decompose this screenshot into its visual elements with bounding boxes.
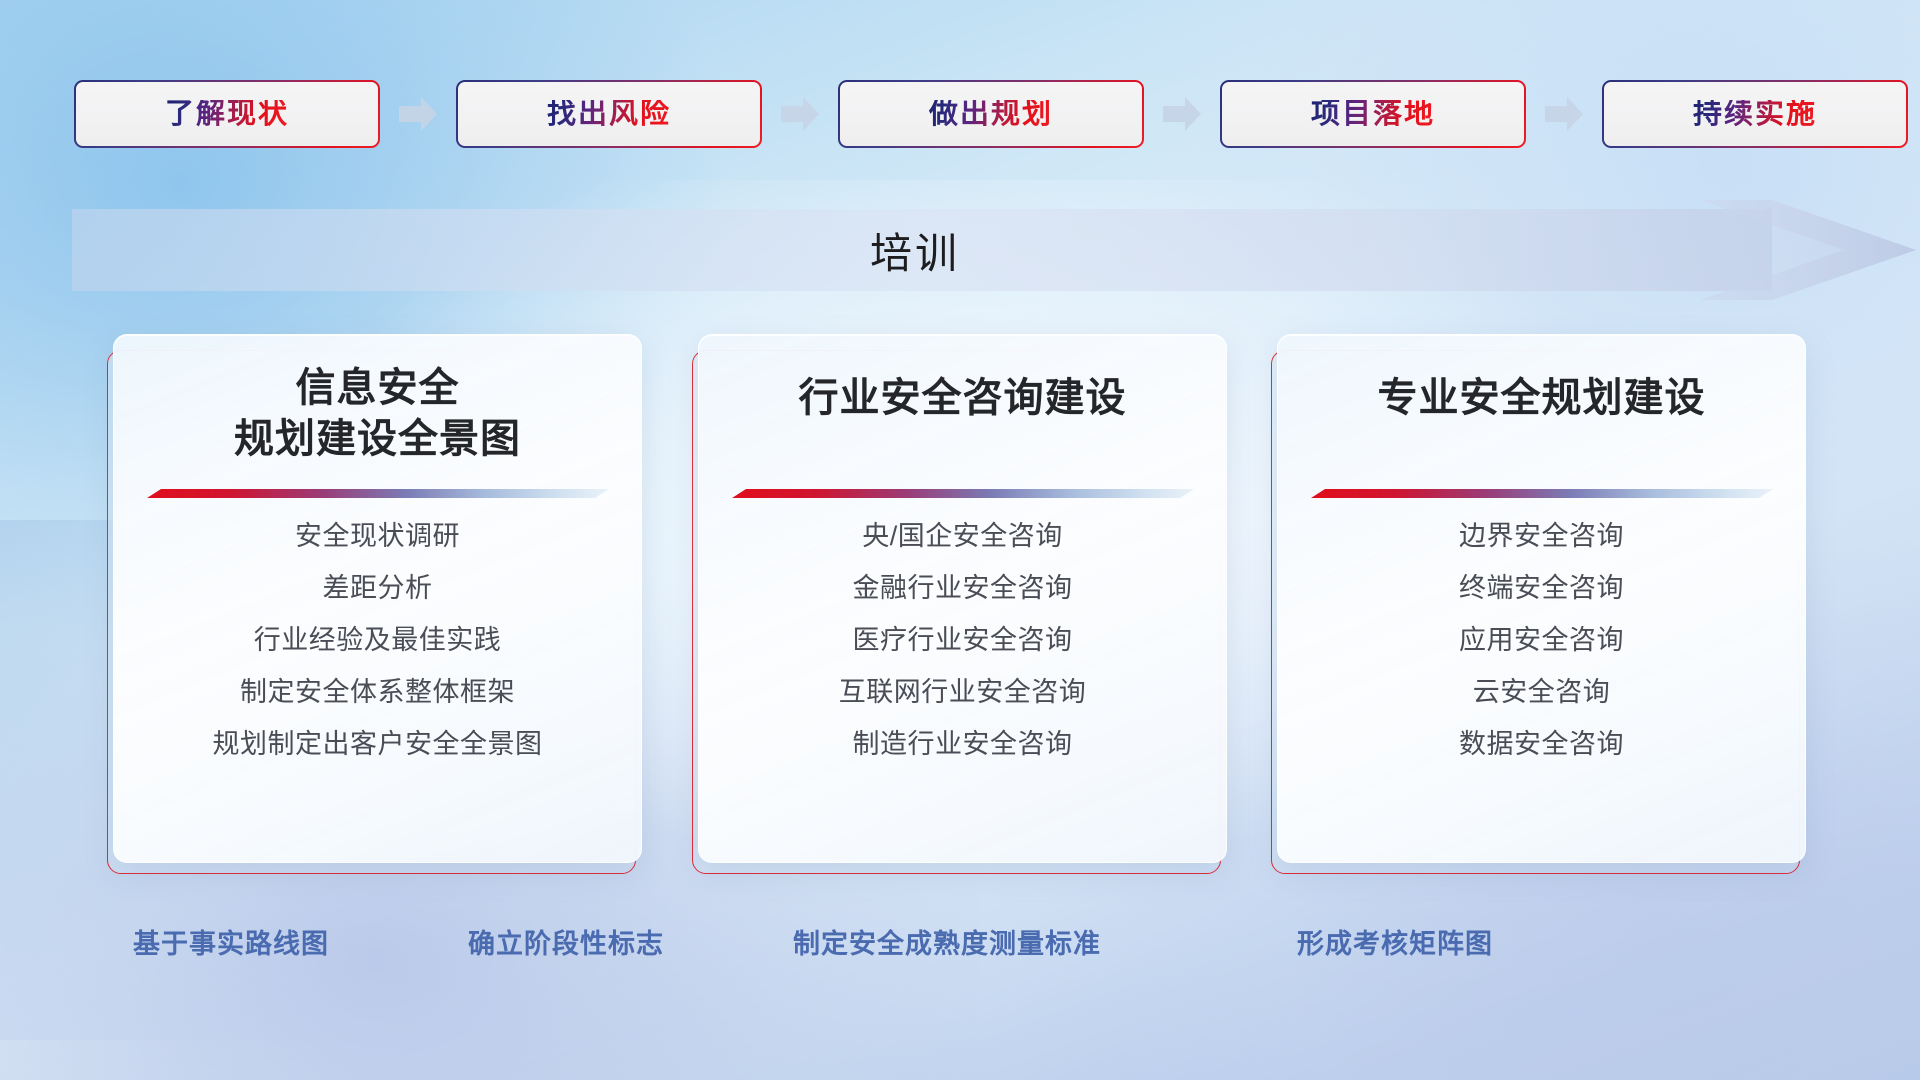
- arrow-right-icon: [397, 94, 439, 134]
- footer-labels: 基于事实路线图 确立阶段性标志 制定安全成熟度测量标准 形成考核矩阵图: [0, 920, 1920, 968]
- process-step-1-label: 了解现状: [165, 100, 289, 129]
- arrow-right-icon: [779, 94, 821, 134]
- list-item: 应用安全咨询: [1278, 627, 1805, 654]
- list-item: 安全现状调研: [114, 523, 641, 550]
- footer-label-2: 确立阶段性标志: [468, 920, 664, 968]
- card-3-wrapper: 专业安全规划建设: [1277, 334, 1806, 880]
- card-2-title: 行业安全咨询建设: [799, 373, 1127, 424]
- card-1[interactable]: 信息安全 规划建设全景图: [113, 334, 642, 863]
- process-step-3-label: 做出规划: [929, 100, 1053, 129]
- footer-label-3: 制定安全成熟度测量标准: [793, 920, 1101, 968]
- process-step-1[interactable]: 了解现状: [74, 80, 380, 148]
- process-step-1-inner: 了解现状: [76, 82, 378, 146]
- process-step-4-label: 项目落地: [1311, 100, 1435, 129]
- footer-label-4: 形成考核矩阵图: [1297, 920, 1493, 968]
- card-3-title: 专业安全规划建设: [1378, 373, 1706, 424]
- list-item: 终端安全咨询: [1278, 575, 1805, 602]
- card-3-divider: [1311, 487, 1773, 501]
- process-step-5[interactable]: 持续实施: [1602, 80, 1908, 148]
- process-step-4[interactable]: 项目落地: [1220, 80, 1526, 148]
- process-step-3[interactable]: 做出规划: [838, 80, 1144, 148]
- list-item: 行业经验及最佳实践: [114, 627, 641, 654]
- process-step-5-label: 持续实施: [1693, 100, 1817, 129]
- list-item: 边界安全咨询: [1278, 523, 1805, 550]
- process-step-4-inner: 项目落地: [1222, 82, 1524, 146]
- process-step-2[interactable]: 找出风险: [456, 80, 762, 148]
- card-1-list: 安全现状调研 差距分析 行业经验及最佳实践 制定安全体系整体框架 规划制定出客户…: [114, 523, 641, 758]
- list-item: 差距分析: [114, 575, 641, 602]
- process-step-5-inner: 持续实施: [1604, 82, 1906, 146]
- card-3[interactable]: 专业安全规划建设: [1277, 334, 1806, 863]
- list-item: 规划制定出客户安全全景图: [114, 731, 641, 758]
- list-item: 央/国企安全咨询: [699, 523, 1226, 550]
- list-item: 金融行业安全咨询: [699, 575, 1226, 602]
- list-item: 云安全咨询: [1278, 679, 1805, 706]
- card-2[interactable]: 行业安全咨询建设: [698, 334, 1227, 863]
- card-2-divider: [732, 487, 1194, 501]
- list-item: 医疗行业安全咨询: [699, 627, 1226, 654]
- training-banner-arrow: [72, 200, 1916, 300]
- card-2-list: 央/国企安全咨询 金融行业安全咨询 医疗行业安全咨询 互联网行业安全咨询 制造行…: [699, 523, 1226, 758]
- list-item: 制定安全体系整体框架: [114, 679, 641, 706]
- list-item: 数据安全咨询: [1278, 731, 1805, 758]
- slide-canvas: 了解现状 找出风险 做出规划: [0, 0, 1920, 1080]
- card-3-list: 边界安全咨询 终端安全咨询 应用安全咨询 云安全咨询 数据安全咨询: [1278, 523, 1805, 758]
- card-1-divider: [147, 487, 609, 501]
- process-step-2-label: 找出风险: [547, 100, 671, 129]
- footer-label-1: 基于事实路线图: [133, 920, 329, 968]
- card-1-wrapper: 信息安全 规划建设全景图: [113, 334, 642, 880]
- process-flow: 了解现状 找出风险 做出规划: [0, 79, 1920, 149]
- cards-row: 信息安全 规划建设全景图: [0, 334, 1920, 880]
- process-step-3-inner: 做出规划: [840, 82, 1142, 146]
- list-item: 制造行业安全咨询: [699, 731, 1226, 758]
- arrow-right-icon: [1543, 94, 1585, 134]
- arrow-right-icon: [1161, 94, 1203, 134]
- process-step-2-inner: 找出风险: [458, 82, 760, 146]
- card-1-title: 信息安全 规划建设全景图: [234, 363, 521, 465]
- card-2-wrapper: 行业安全咨询建设: [698, 334, 1227, 880]
- list-item: 互联网行业安全咨询: [699, 679, 1226, 706]
